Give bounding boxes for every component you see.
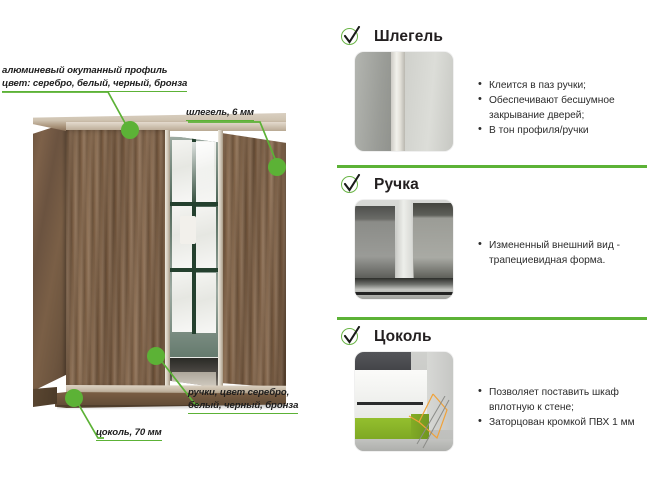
list-item: Обеспечивают бесшумное закрывание дверей… [489, 93, 652, 123]
feature-header: Цоколь [332, 322, 652, 352]
annotation-handles: ручки, цвет серебро, белый, черный, брон… [188, 386, 298, 414]
check-circle-icon [341, 328, 360, 347]
feature-header: Ручка [332, 170, 652, 200]
mirror-mullion-horizontal [170, 268, 218, 272]
thumbnail-handle-trapezoid [355, 200, 453, 299]
feature-bullets: Клеится в паз ручки; Обеспечивают бесшум… [477, 78, 652, 138]
list-item: Измененный внешний вид - трапециевидная … [489, 238, 652, 268]
feature-card-handle: Ручка Измененный внешний вид - трапециев… [332, 170, 652, 316]
check-circle-icon [341, 176, 360, 195]
leader-line-profile [0, 88, 140, 136]
marker-plinth [65, 389, 83, 407]
feature-bullets: Измененный внешний вид - трапециевидная … [477, 238, 652, 268]
slide-canvas: алюминевый окутанный профиль цвет: сереб… [0, 0, 652, 500]
feature-bullets: Позволяет поставить шкаф вплотную к стен… [477, 385, 652, 430]
section-divider [337, 317, 647, 320]
mirror-pane [196, 207, 216, 269]
mirror-mullion-horizontal [170, 202, 218, 206]
product-illustration-panel: алюминевый окутанный профиль цвет: сереб… [0, 0, 332, 500]
feature-title: Шлегель [374, 28, 443, 46]
mirror-pane [172, 272, 192, 332]
check-circle-icon [341, 28, 360, 47]
features-panel: Шлегель Клеится в паз ручки; Обеспечиваю… [332, 0, 652, 500]
marker-handles [147, 347, 165, 365]
callout-guide-lines [411, 396, 453, 450]
annotation-plinth: цоколь, 70 мм [96, 426, 162, 441]
thumbnail-plinth-green [355, 352, 453, 451]
annotation-profile: алюминевый окутанный профиль цвет: сереб… [2, 64, 187, 92]
feature-title: Цоколь [374, 328, 432, 346]
feature-header: Шлегель [332, 22, 652, 52]
mirror-reflected-object [180, 216, 196, 244]
marker-shlegel [268, 158, 286, 176]
section-divider [337, 165, 647, 168]
feature-title: Ручка [374, 176, 419, 194]
wardrobe-plinth-side [33, 387, 57, 407]
feature-card-plinth: Цоколь [332, 322, 652, 472]
mirror-pane [196, 273, 216, 333]
aluminium-profile-left [165, 130, 170, 388]
feature-card-shlegel: Шлегель Клеится в паз ручки; Обеспечиваю… [332, 22, 652, 164]
list-item: Заторцован кромкой ПВХ 1 мм [489, 415, 652, 430]
list-item: Позволяет поставить шкаф вплотную к стен… [489, 385, 652, 415]
list-item: В тон профиля/ручки [489, 123, 652, 138]
wardrobe-side-panel [33, 123, 66, 391]
annotation-shlegel: шлегель, 6 мм [186, 106, 254, 121]
list-item: Клеится в паз ручки; [489, 78, 652, 93]
thumbnail-schlegel-seal [355, 52, 453, 151]
marker-profile [121, 121, 139, 139]
